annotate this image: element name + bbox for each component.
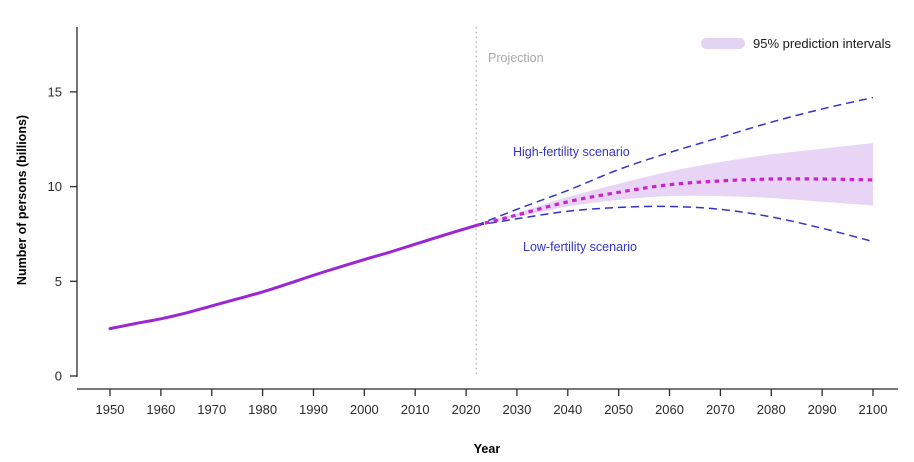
projection-annotation: Projection: [488, 51, 544, 65]
x-tick-label: 2030: [502, 402, 531, 417]
x-tick-label: 2010: [401, 402, 430, 417]
high-fertility-annotation: High-fertility scenario: [513, 145, 630, 159]
x-tick-label: 2060: [655, 402, 684, 417]
x-tick-label: 2080: [757, 402, 786, 417]
x-tick-label: 2100: [859, 402, 888, 417]
x-tick-label: 1960: [146, 402, 175, 417]
x-tick-label: 2070: [706, 402, 735, 417]
y-tick-label: 5: [55, 274, 62, 289]
x-axis-title: Year: [474, 442, 501, 456]
x-tick-label: 2050: [604, 402, 633, 417]
x-tick-label: 1950: [96, 402, 125, 417]
x-tick-label: 1980: [248, 402, 277, 417]
chart-legend: 95% prediction intervals: [701, 36, 892, 51]
x-tick-label: 2020: [452, 402, 481, 417]
low-fertility-annotation: Low-fertility scenario: [523, 240, 637, 254]
x-tick-label: 1970: [197, 402, 226, 417]
y-tick-label: 0: [55, 369, 62, 384]
legend-label-prediction-interval: 95% prediction intervals: [753, 36, 892, 51]
y-tick-label: 10: [48, 179, 62, 194]
x-tick-label: 2090: [808, 402, 837, 417]
x-tick-label: 1990: [299, 402, 328, 417]
x-tick-label: 2040: [553, 402, 582, 417]
chart-canvas: 051015 195019601970198019902000201020202…: [0, 0, 914, 462]
population-projection-chart: 051015 195019601970198019902000201020202…: [0, 0, 914, 462]
y-axis-title: Number of persons (billions): [15, 115, 29, 285]
y-tick-label: 15: [48, 84, 62, 99]
x-tick-label: 2000: [350, 402, 379, 417]
legend-swatch-prediction-interval: [701, 38, 745, 49]
